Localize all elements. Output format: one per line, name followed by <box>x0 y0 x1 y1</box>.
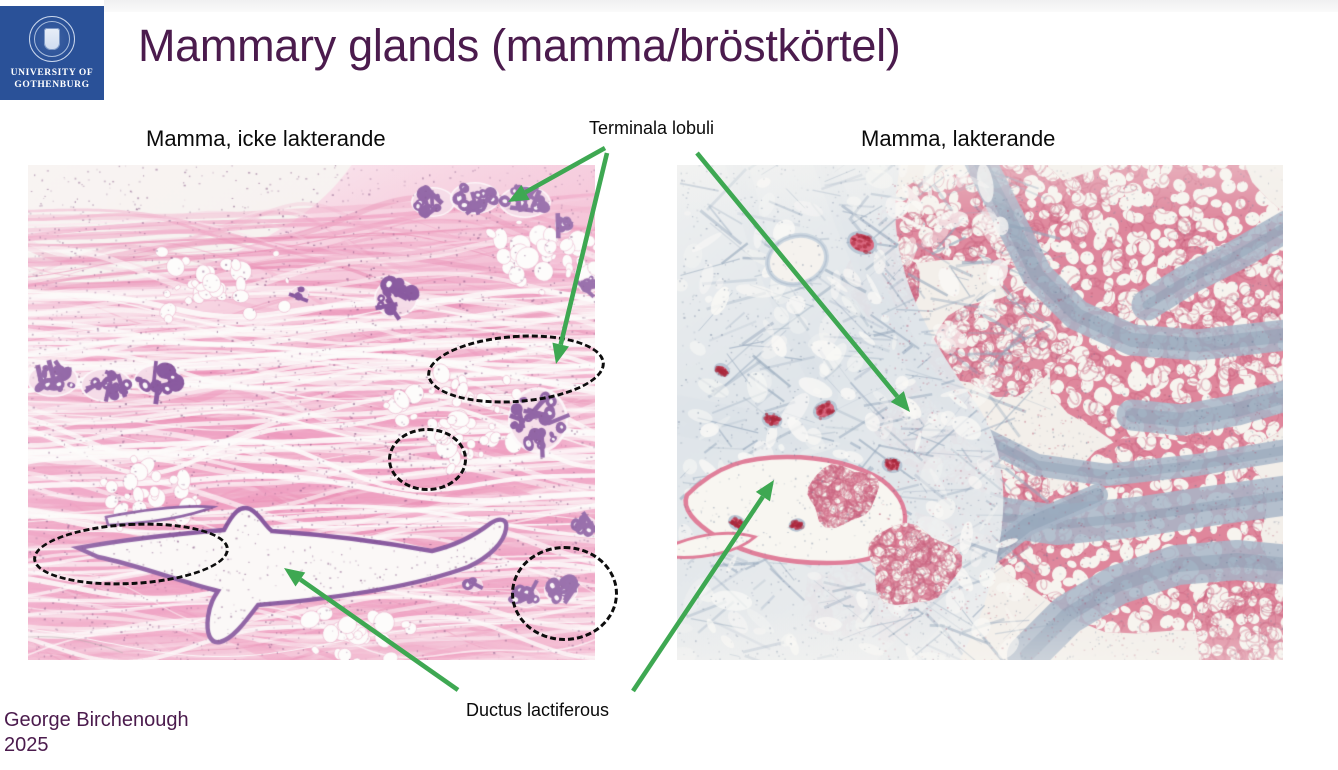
footer-author: George Birchenough <box>4 708 189 733</box>
caption-lactating: Mamma, lakterande <box>861 126 1055 152</box>
university-seal-icon <box>29 16 75 62</box>
micrograph-lactating <box>677 165 1283 660</box>
footer-credit: George Birchenough 2025 <box>4 708 189 758</box>
logo-line-2: GOTHENBURG <box>11 79 94 91</box>
page-title: Mammary glands (mamma/bröstkörtel) <box>138 22 900 69</box>
caption-non-lactating: Mamma, icke lakterande <box>146 126 386 152</box>
micrograph-lactating-canvas <box>677 165 1283 660</box>
label-terminala-lobuli: Terminala lobuli <box>589 118 714 139</box>
micrograph-non-lactating-canvas <box>28 165 595 660</box>
label-ductus-lactiferous: Ductus lactiferous <box>466 700 609 721</box>
footer-year: 2025 <box>4 733 189 758</box>
window-top-band <box>0 0 1338 12</box>
micrograph-non-lactating <box>28 165 595 660</box>
slide-canvas: UNIVERSITY OF GOTHENBURG Mammary glands … <box>0 0 1338 770</box>
logo-line-1: UNIVERSITY OF <box>11 67 94 79</box>
university-of-gothenburg-logo: UNIVERSITY OF GOTHENBURG <box>0 6 104 100</box>
